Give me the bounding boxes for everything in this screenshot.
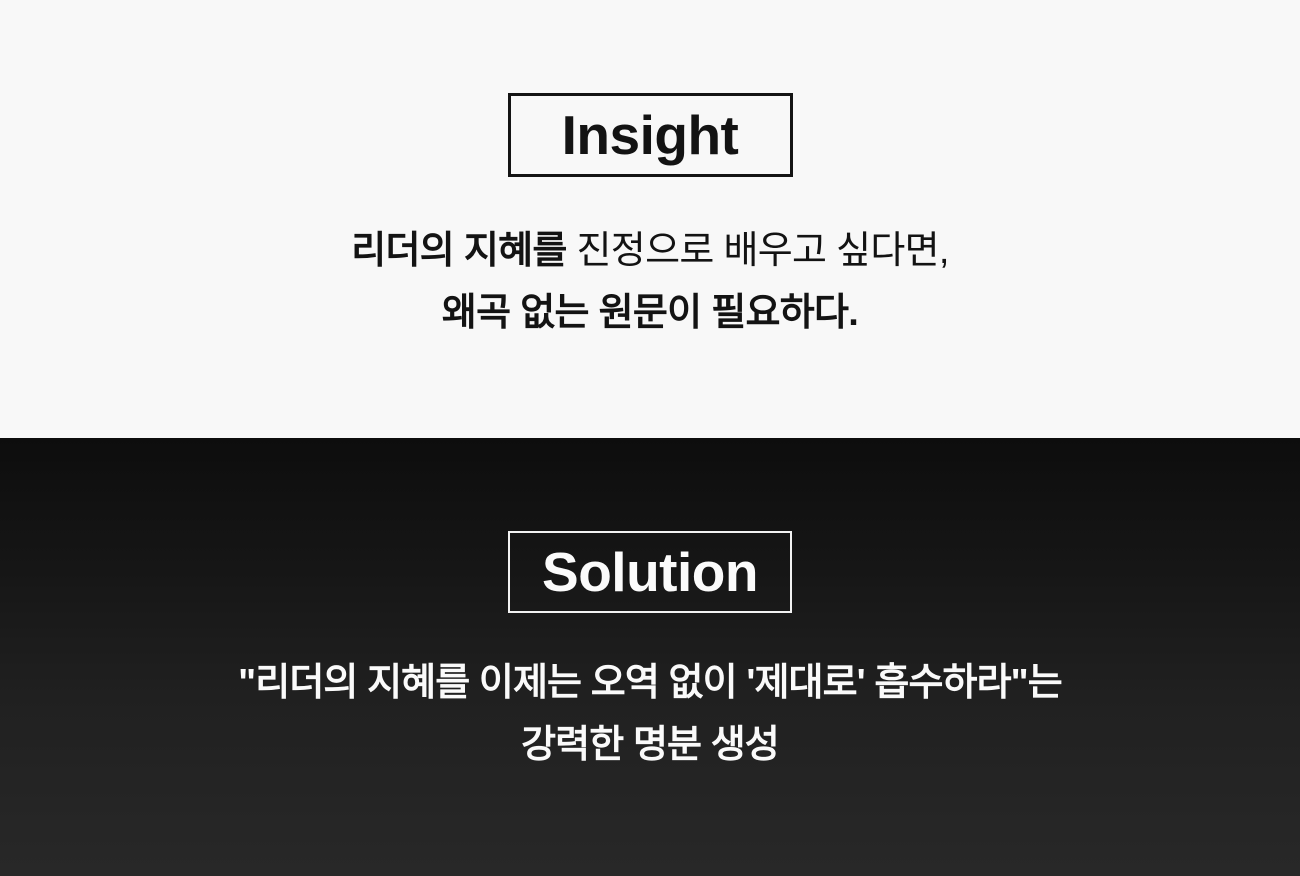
solution-panel: Solution "리더의 지혜를 이제는 오역 없이 '제대로' 흡수하라"는… bbox=[0, 438, 1300, 876]
insight-solution-slide: Insight 리더의 지혜를 진정으로 배우고 싶다면, 왜곡 없는 원문이 … bbox=[0, 0, 1300, 876]
insight-headline-line-2: 왜곡 없는 원문이 필요하다. bbox=[351, 283, 948, 345]
insight-headline: 리더의 지혜를 진정으로 배우고 싶다면, 왜곡 없는 원문이 필요하다. bbox=[351, 221, 948, 344]
insight-headline-line-1: 리더의 지혜를 진정으로 배우고 싶다면, bbox=[351, 221, 948, 283]
solution-badge-label: Solution bbox=[542, 545, 758, 600]
solution-badge: Solution bbox=[508, 531, 792, 613]
insight-panel: Insight 리더의 지혜를 진정으로 배우고 싶다면, 왜곡 없는 원문이 … bbox=[0, 0, 1300, 438]
insight-headline-line-1-emphasis: 리더의 지혜를 bbox=[351, 230, 576, 272]
insight-badge: Insight bbox=[508, 93, 793, 177]
insight-headline-line-1-rest: 진정으로 배우고 싶다면, bbox=[577, 230, 949, 272]
solution-headline-line-1: "리더의 지혜를 이제는 오역 없이 '제대로' 흡수하라"는 bbox=[238, 653, 1062, 715]
solution-headline: "리더의 지혜를 이제는 오역 없이 '제대로' 흡수하라"는 강력한 명분 생… bbox=[238, 653, 1062, 776]
solution-headline-line-2: 강력한 명분 생성 bbox=[238, 715, 1062, 777]
insight-badge-label: Insight bbox=[562, 108, 739, 163]
